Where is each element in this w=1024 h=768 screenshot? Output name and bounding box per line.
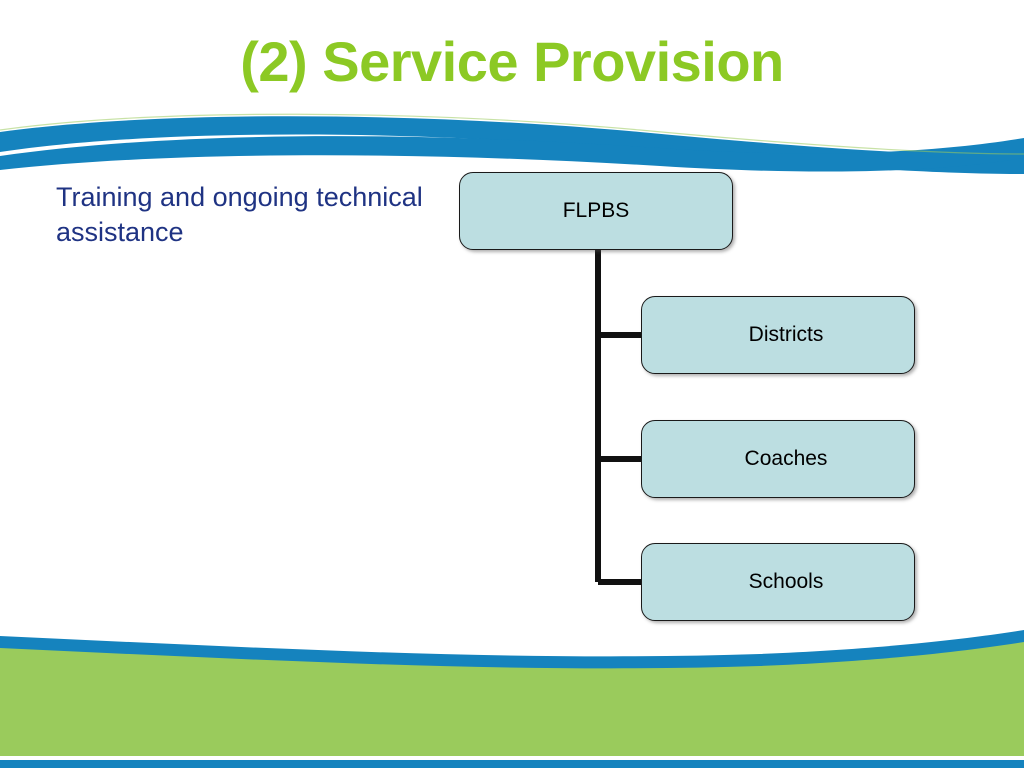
node-coaches-label: Coaches — [745, 447, 828, 471]
footer: Just Read, Florida! The New Department o… — [0, 624, 1024, 768]
node-districts[interactable]: Districts — [641, 296, 915, 374]
node-schools[interactable]: Schools — [641, 543, 915, 621]
footer-wave-background — [0, 624, 1024, 768]
slide-canvas: (2) Service Provision Training and ongoi… — [0, 0, 1024, 768]
node-flpbs-label: FLPBS — [563, 199, 630, 223]
node-districts-label: Districts — [749, 323, 824, 347]
node-flpbs[interactable]: FLPBS — [459, 172, 733, 250]
org-chart: FLPBS Districts Coaches Schools — [0, 0, 1024, 640]
footer-bottom-strip — [0, 760, 1024, 768]
node-coaches[interactable]: Coaches — [641, 420, 915, 498]
node-schools-label: Schools — [749, 570, 824, 594]
